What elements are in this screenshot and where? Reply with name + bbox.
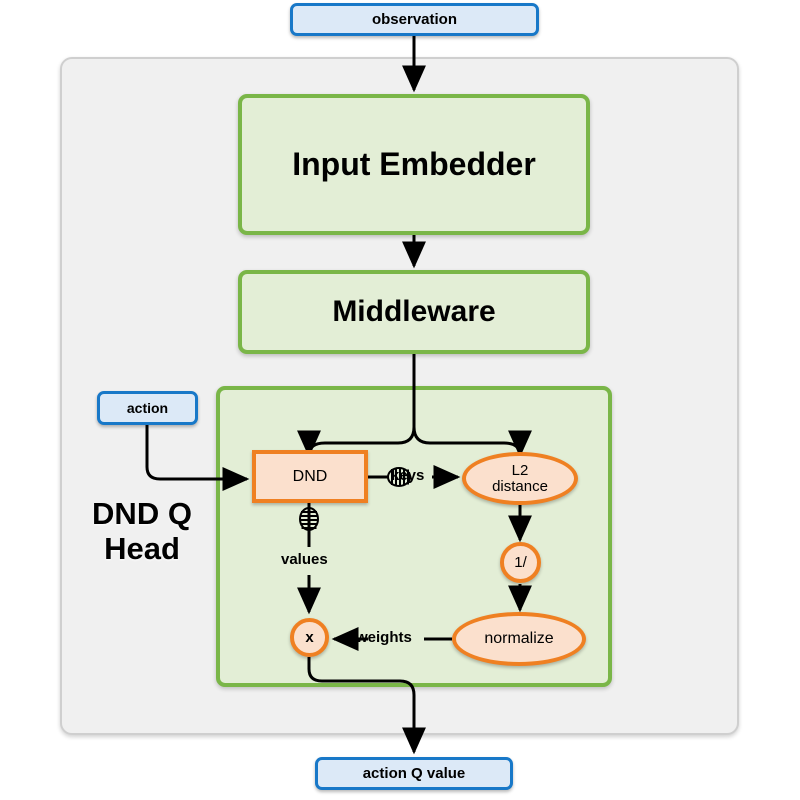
io-action-q-value-label: action Q value <box>363 765 466 782</box>
edge-action-to-dnd <box>147 425 247 479</box>
module-input-embedder[interactable]: Input Embedder <box>238 94 590 235</box>
node-l2-distance[interactable]: L2 distance <box>462 452 578 505</box>
edge-fork-to-l2 <box>414 427 520 455</box>
edge-label-values-text: values <box>281 551 328 568</box>
edge-label-weights-text: weights <box>356 629 412 646</box>
dnd-q-head-label: DND Q Head <box>72 497 212 566</box>
edge-multiply-to-output <box>309 657 414 752</box>
node-normalize[interactable]: normalize <box>452 612 586 666</box>
edge-label-values: values <box>281 551 328 568</box>
io-action-q-value[interactable]: action Q value <box>315 757 513 790</box>
node-multiply[interactable]: x <box>290 618 329 657</box>
module-middleware-label: Middleware <box>332 295 495 329</box>
node-multiply-label: x <box>305 630 313 646</box>
node-inverse[interactable]: 1/ <box>500 542 541 583</box>
module-input-embedder-label: Input Embedder <box>292 146 536 183</box>
edge-label-weights: weights <box>356 629 412 646</box>
module-middleware[interactable]: Middleware <box>238 270 590 354</box>
io-observation-label: observation <box>372 11 457 28</box>
edge-label-keys: keys <box>391 467 424 484</box>
diagram-canvas: observation Input Embedder Middleware ac… <box>0 0 800 800</box>
node-l2-distance-label-line2: distance <box>492 479 548 495</box>
node-dnd[interactable]: DND <box>252 450 368 503</box>
dnd-q-head-label-line1: DND Q <box>72 497 212 532</box>
io-action-label: action <box>127 400 168 416</box>
edge-label-keys-text: keys <box>391 467 424 484</box>
node-inverse-label: 1/ <box>514 555 527 571</box>
io-observation[interactable]: observation <box>290 3 539 36</box>
node-l2-distance-label-line1: L2 <box>512 463 529 479</box>
node-dnd-label: DND <box>293 468 328 486</box>
dnd-q-head-label-line2: Head <box>72 532 212 567</box>
io-action[interactable]: action <box>97 391 198 425</box>
node-normalize-label: normalize <box>484 631 553 648</box>
